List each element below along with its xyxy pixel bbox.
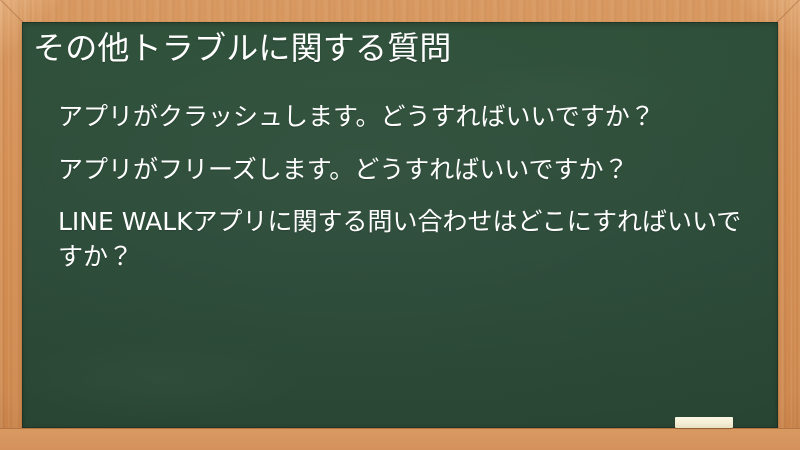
blackboard-slide: その他トラブルに関する質問 アプリがクラッシュします。どうすればいいですか？ ア… [0, 0, 800, 450]
question-item-2: アプリがフリーズします。どうすればいいですか？ [58, 153, 762, 188]
question-item-1: アプリがクラッシュします。どうすればいいですか？ [58, 100, 762, 135]
board-content: その他トラブルに関する質問 アプリがクラッシュします。どうすればいいですか？ ア… [22, 22, 778, 428]
question-list: アプリがクラッシュします。どうすればいいですか？ アプリがフリーズします。どうす… [58, 100, 762, 274]
slide-title: その他トラブルに関する質問 [33, 28, 768, 70]
chalk-ledge [0, 428, 800, 450]
question-item-3: LINE WALKアプリに関する問い合わせはどこにすればいいですか？ [58, 205, 762, 274]
